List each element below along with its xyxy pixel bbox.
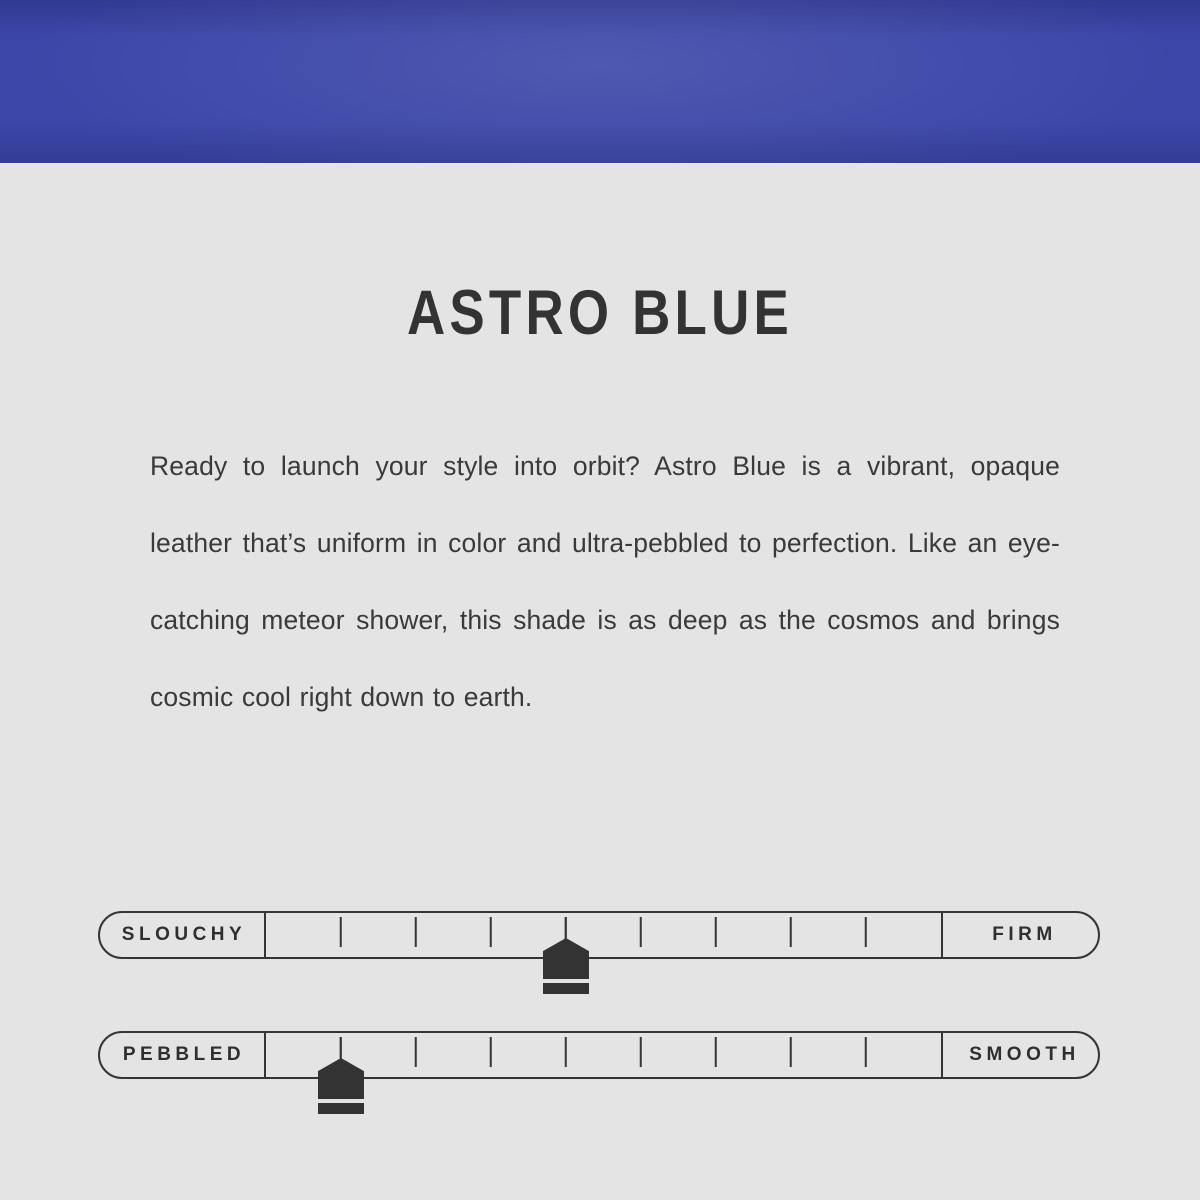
slider-tick	[865, 1037, 868, 1067]
slider-tick	[490, 1037, 493, 1067]
marker-base-bar	[543, 983, 589, 994]
slider-tick	[415, 917, 418, 947]
slider-tick	[790, 917, 793, 947]
content-area: ASTRO BLUE Ready to launch your style in…	[0, 163, 1200, 1200]
slider-tick	[490, 917, 493, 947]
page-title: ASTRO BLUE	[96, 282, 1104, 345]
slider-tick	[340, 1037, 343, 1067]
slider-texture[interactable]: PEBBLED SMOOTH	[98, 1031, 1100, 1079]
slider-firmness[interactable]: SLOUCHY FIRM	[98, 911, 1100, 959]
slider-firmness-ticks	[266, 911, 941, 959]
slider-texture-left-label: PEBBLED	[98, 1031, 266, 1079]
slider-tick	[865, 917, 868, 947]
slider-firmness-left-label: SLOUCHY	[98, 911, 266, 959]
slider-tick	[340, 917, 343, 947]
description-text: Ready to launch your style into orbit? A…	[150, 428, 1060, 736]
slider-tick	[640, 1037, 643, 1067]
slider-tick	[790, 1037, 793, 1067]
leather-swatch-band	[0, 0, 1200, 163]
slider-tick	[565, 917, 568, 947]
slider-tick	[640, 917, 643, 947]
slider-tick	[565, 1037, 568, 1067]
slider-tick	[715, 1037, 718, 1067]
slider-firmness-right-label: FIRM	[941, 911, 1100, 959]
slider-tick	[415, 1037, 418, 1067]
slider-texture-ticks	[266, 1031, 941, 1079]
marker-base-bar	[318, 1103, 364, 1114]
swatch-shading-overlay	[0, 0, 1200, 163]
slider-texture-right-label: SMOOTH	[941, 1031, 1100, 1079]
slider-tick	[715, 917, 718, 947]
